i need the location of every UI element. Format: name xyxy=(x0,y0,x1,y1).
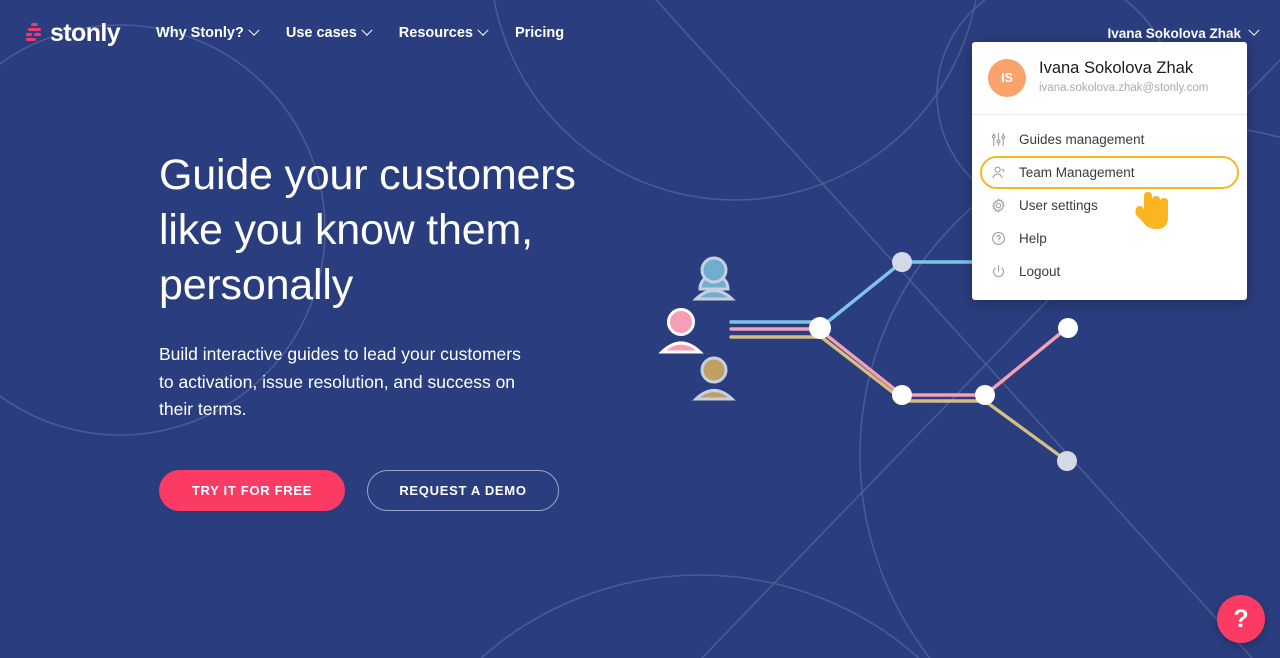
nav-item-use-cases[interactable]: Use cases xyxy=(286,25,371,41)
sliders-icon xyxy=(990,131,1007,148)
dropdown-user-header: IS Ivana Sokolova Zhak ivana.sokolova.zh… xyxy=(972,42,1247,115)
hero-heading-line-2: like you know them, xyxy=(159,206,533,254)
person-icon xyxy=(990,164,1007,181)
hero-heading-line-3: personally xyxy=(159,261,353,309)
nav-item-label: Pricing xyxy=(515,25,564,41)
menu-item-label: Guides management xyxy=(1019,132,1144,147)
gear-icon xyxy=(990,197,1007,214)
nav-item-label: Why Stonly? xyxy=(156,25,244,41)
account-name-label: Ivana Sokolova Zhak xyxy=(1107,26,1241,41)
question-circle-icon xyxy=(990,230,1007,247)
hero-cta-row: TRY IT FOR FREE REQUEST A DEMO xyxy=(159,470,719,511)
menu-item-label: Team Management xyxy=(1019,165,1135,180)
menu-item-help[interactable]: Help xyxy=(980,222,1239,255)
chevron-down-icon xyxy=(361,25,372,36)
account-menu-trigger[interactable]: Ivana Sokolova Zhak xyxy=(1107,26,1258,41)
chevron-down-icon xyxy=(1248,25,1259,36)
nav-links: Why Stonly? Use cases Resources Pricing xyxy=(156,25,564,41)
nav-item-label: Use cases xyxy=(286,25,357,41)
dropdown-item-list: Guides management Team Management xyxy=(972,115,1247,300)
try-it-for-free-button[interactable]: TRY IT FOR FREE xyxy=(159,470,345,511)
dropdown-user-name: Ivana Sokolova Zhak xyxy=(1039,58,1208,78)
hero-subtext: Build interactive guides to lead your cu… xyxy=(159,341,539,424)
chevron-down-icon xyxy=(248,25,259,36)
brand-logo[interactable]: stonly xyxy=(26,19,120,48)
stonly-bars-logo-icon xyxy=(26,23,43,43)
power-icon xyxy=(990,263,1007,280)
nav-item-pricing[interactable]: Pricing xyxy=(515,25,564,41)
page-title: Guide your customers like you know them,… xyxy=(159,148,719,313)
menu-item-logout[interactable]: Logout xyxy=(980,255,1239,288)
chevron-down-icon xyxy=(477,25,488,36)
page-root: stonly Why Stonly? Use cases Resources P… xyxy=(0,0,1280,658)
menu-item-label: Help xyxy=(1019,231,1047,246)
brand-name: stonly xyxy=(50,19,120,48)
menu-item-user-settings[interactable]: User settings xyxy=(980,189,1239,222)
hero-heading-line-1: Guide your customers xyxy=(159,151,576,199)
request-a-demo-button[interactable]: REQUEST A DEMO xyxy=(367,470,559,511)
nav-item-why-stonly[interactable]: Why Stonly? xyxy=(156,25,258,41)
menu-item-team-management[interactable]: Team Management xyxy=(980,156,1239,189)
menu-item-label: Logout xyxy=(1019,264,1060,279)
avatar: IS xyxy=(988,59,1026,97)
nav-item-label: Resources xyxy=(399,25,473,41)
dropdown-user-email: ivana.sokolova.zhak@stonly.com xyxy=(1039,80,1208,97)
menu-item-label: User settings xyxy=(1019,198,1098,213)
account-dropdown-menu: IS Ivana Sokolova Zhak ivana.sokolova.zh… xyxy=(972,42,1247,300)
hero-section: Guide your customers like you know them,… xyxy=(159,148,719,511)
nav-item-resources[interactable]: Resources xyxy=(399,25,487,41)
help-chat-button[interactable]: ? xyxy=(1217,595,1265,643)
menu-item-guides-management[interactable]: Guides management xyxy=(980,123,1239,156)
